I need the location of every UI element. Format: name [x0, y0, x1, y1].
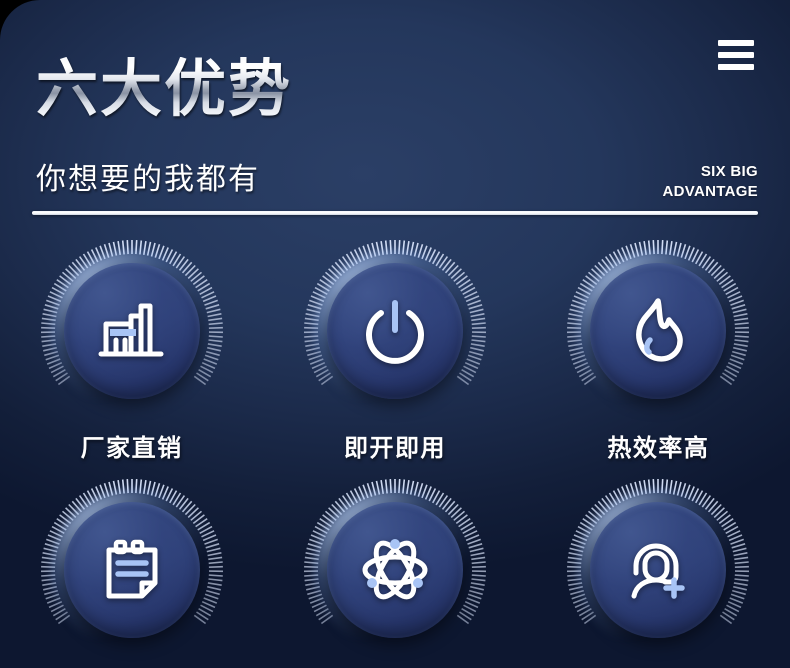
- feature-label: 热效率高: [607, 428, 709, 463]
- hamburger-bar-1: [718, 40, 754, 46]
- page-title: 六大优势: [36, 57, 292, 122]
- hamburger-menu-icon[interactable]: [718, 39, 754, 71]
- feature-item-atom[interactable]: 智能变频: [263, 477, 526, 668]
- disc-power: [327, 263, 463, 399]
- power-button-icon: [358, 294, 432, 368]
- dial-support: [565, 477, 751, 663]
- dial-clipboard: [39, 477, 225, 663]
- advantage-banner: 六大优势 你想要的我都有 SIX BIG ADVANTAGE: [0, 0, 790, 668]
- eyebrow-line-1: SIX BIG: [663, 162, 758, 182]
- atom-icon: [358, 533, 432, 607]
- dial-power: [302, 238, 488, 424]
- flame-icon: [621, 294, 695, 368]
- eyebrow-line-2: ADVANTAGE: [663, 182, 758, 202]
- feature-item-clipboard[interactable]: 无需报检: [0, 477, 263, 668]
- dial-flame: [565, 238, 751, 424]
- hamburger-bar-3: [718, 64, 754, 70]
- customer-service-icon: [621, 533, 695, 607]
- english-eyebrow: SIX BIG ADVANTAGE: [663, 162, 758, 203]
- clipboard-icon: [95, 533, 169, 607]
- feature-label: 即开即用: [344, 428, 446, 463]
- dial-atom: [302, 477, 488, 663]
- page-subtitle: 你想要的我都有: [36, 154, 260, 198]
- feature-grid: 厂家直销 即开即用: [0, 238, 790, 668]
- header-divider: [32, 211, 758, 215]
- disc-atom: [327, 502, 463, 638]
- feature-item-flame[interactable]: 热效率高: [527, 238, 790, 463]
- feature-item-factory[interactable]: 厂家直销: [0, 238, 263, 463]
- disc-clipboard: [64, 502, 200, 638]
- disc-factory: [64, 263, 200, 399]
- disc-support: [590, 502, 726, 638]
- factory-icon: [95, 294, 169, 368]
- feature-label: 厂家直销: [81, 428, 183, 463]
- hamburger-bar-2: [718, 52, 754, 58]
- feature-item-support[interactable]: 售后无忧: [527, 477, 790, 668]
- disc-flame: [590, 263, 726, 399]
- dial-factory: [39, 238, 225, 424]
- feature-item-power[interactable]: 即开即用: [263, 238, 526, 463]
